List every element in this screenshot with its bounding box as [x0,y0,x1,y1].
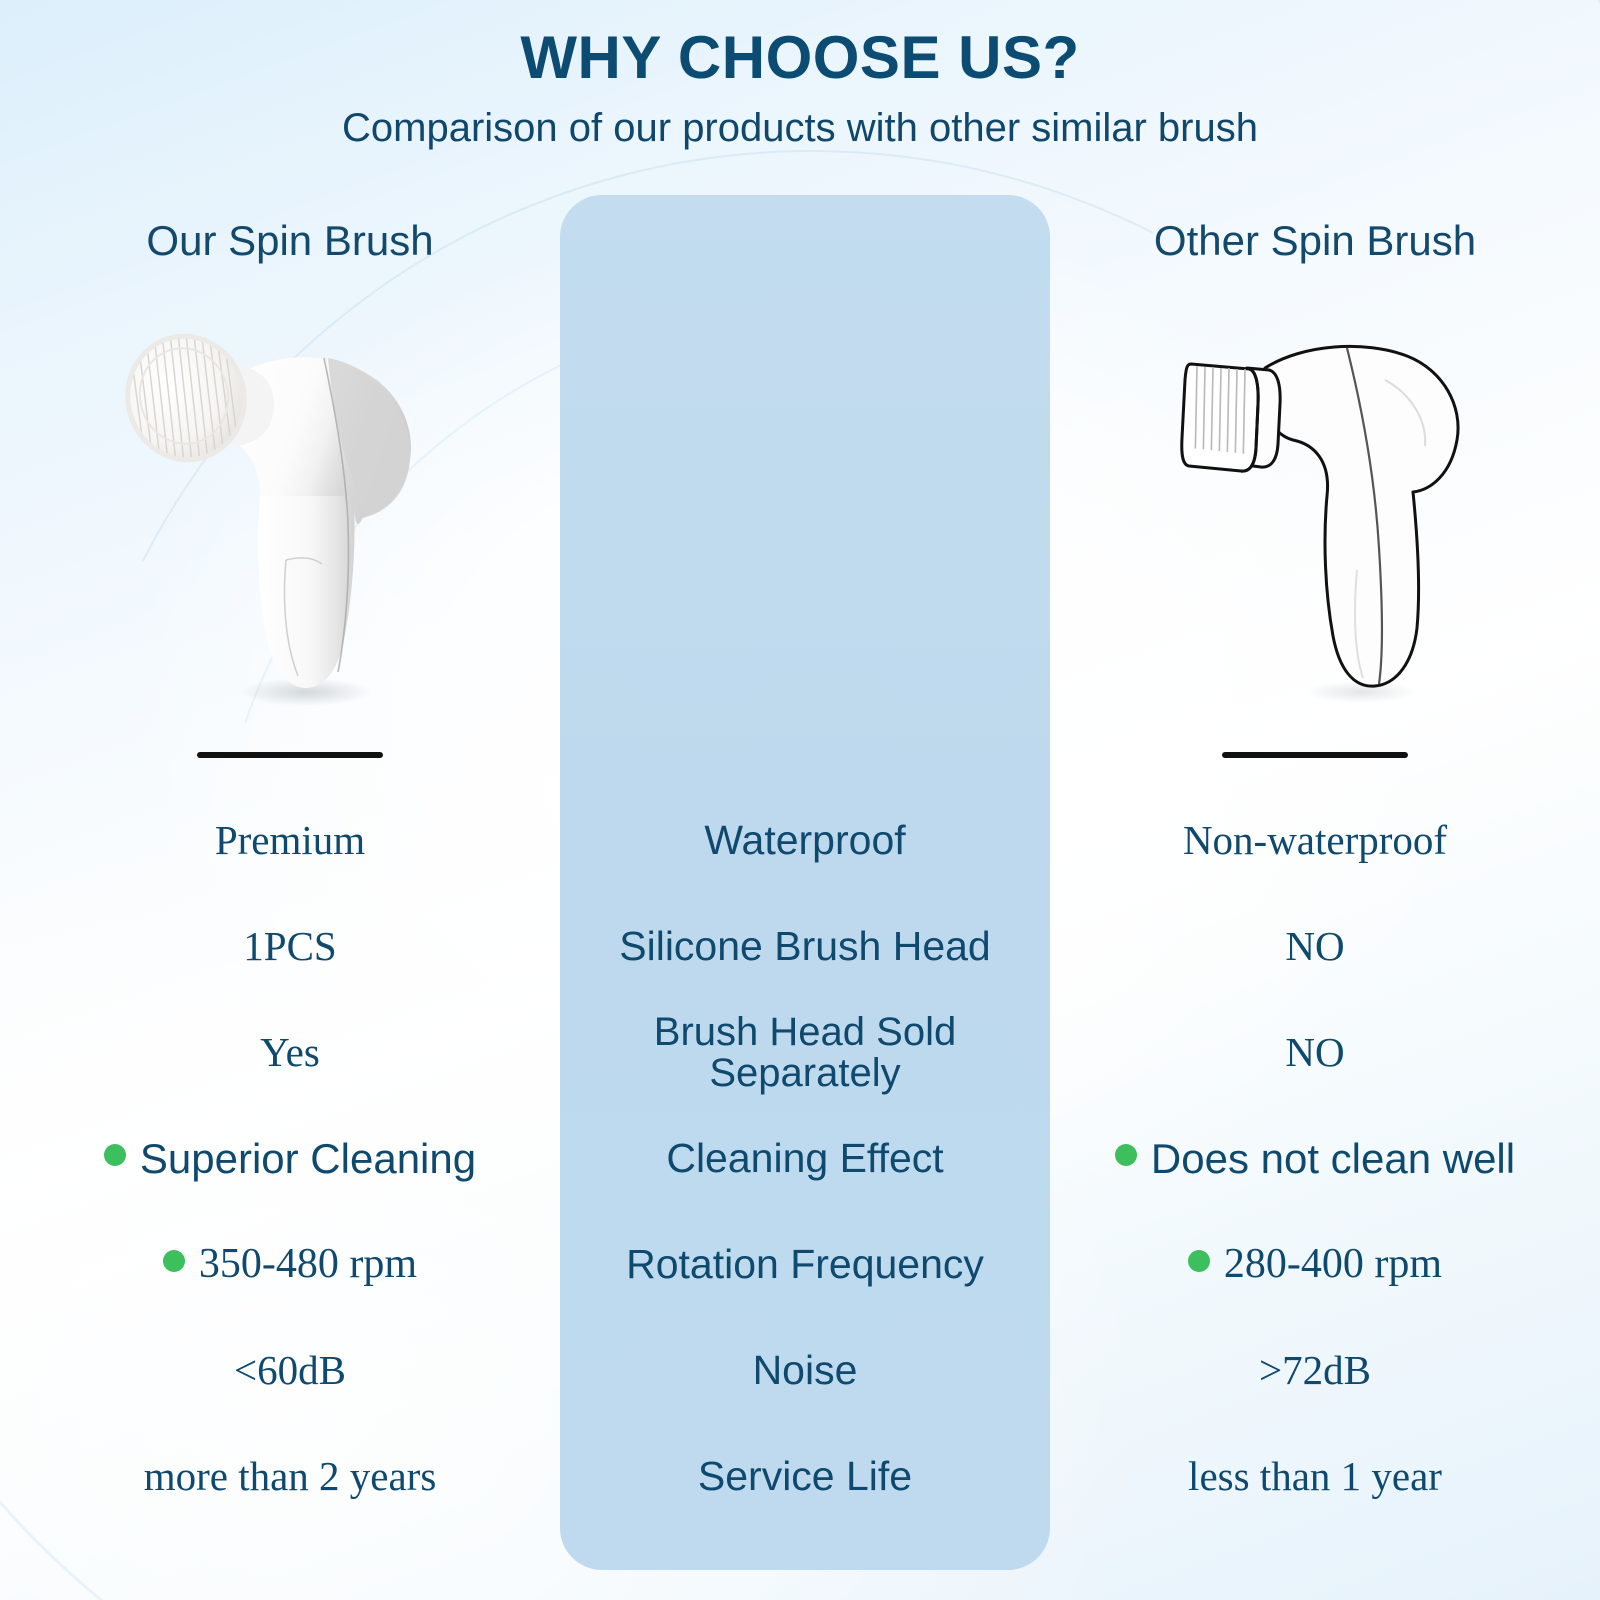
label-list-center: Waterproof Silicone Brush Head Brush Hea… [560,788,1050,1530]
label-row: Cleaning Effect [560,1106,1050,1212]
label-text: Brush Head Sold Separately [566,1012,1044,1094]
infographic-canvas: WHY CHOOSE US? Comparison of our product… [0,0,1600,1600]
green-bullet-icon [1115,1144,1137,1166]
value-row: Yes [40,1000,540,1106]
label-text: Service Life [698,1454,912,1500]
label-row: Noise [560,1318,1050,1424]
label-row: Rotation Frequency [560,1212,1050,1318]
value-text: Premium [215,818,365,864]
value-text: Superior Cleaning [140,1135,476,1182]
column-header-right: Other Spin Brush [1065,218,1565,264]
value-row: 350-480 rpm [40,1212,540,1318]
value-text: less than 1 year [1188,1454,1442,1500]
green-bullet-icon [1188,1250,1210,1272]
value-list-right: Non-waterproof NO NO Does not clean well… [1065,788,1565,1530]
green-bullet-icon [163,1250,185,1272]
green-bullet-icon [104,1144,126,1166]
label-text: Rotation Frequency [626,1242,984,1288]
value-row: more than 2 years [40,1424,540,1530]
value-text: <60dB [234,1348,346,1394]
label-row: Service Life [560,1424,1050,1530]
value-text: more than 2 years [144,1454,437,1500]
our-spin-brush-photo [110,320,470,720]
value-row: Superior Cleaning [40,1106,540,1212]
value-row: NO [1065,894,1565,1000]
divider-line-left [197,752,383,758]
value-text: NO [1285,924,1344,970]
value-text: 280-400 rpm [1224,1241,1442,1288]
column-feature-labels: Waterproof Silicone Brush Head Brush Hea… [560,0,1050,1600]
column-header-left: Our Spin Brush [40,218,540,264]
label-row: Waterproof [560,788,1050,894]
divider-line-right [1222,752,1408,758]
value-text: Non-waterproof [1183,818,1447,864]
value-row: >72dB [1065,1318,1565,1424]
value-row: 1PCS [40,894,540,1000]
value-text: >72dB [1259,1348,1371,1394]
value-row: 280-400 rpm [1065,1212,1565,1318]
label-row: Brush Head Sold Separately [560,1000,1050,1106]
column-other-spin-brush: Other Spin Brush [1065,0,1565,1600]
value-row: NO [1065,1000,1565,1106]
value-row: Non-waterproof [1065,788,1565,894]
value-row: <60dB [40,1318,540,1424]
value-text: NO [1285,1030,1344,1076]
label-row: Silicone Brush Head [560,894,1050,1000]
value-text: Yes [260,1030,320,1076]
label-text: Noise [753,1348,858,1394]
label-text: Waterproof [704,818,905,864]
value-text: 350-480 rpm [199,1241,417,1288]
value-text: Does not clean well [1151,1135,1515,1182]
column-our-spin-brush: Our Spin Brush [40,0,540,1600]
label-text: Silicone Brush Head [619,924,990,970]
value-list-left: Premium 1PCS Yes Superior Cleaning 350-4… [40,788,540,1530]
value-row: less than 1 year [1065,1424,1565,1530]
value-row: Does not clean well [1065,1106,1565,1212]
label-text: Cleaning Effect [666,1136,943,1182]
value-text: 1PCS [243,924,336,970]
other-spin-brush-lineart [1135,320,1495,720]
value-row: Premium [40,788,540,894]
